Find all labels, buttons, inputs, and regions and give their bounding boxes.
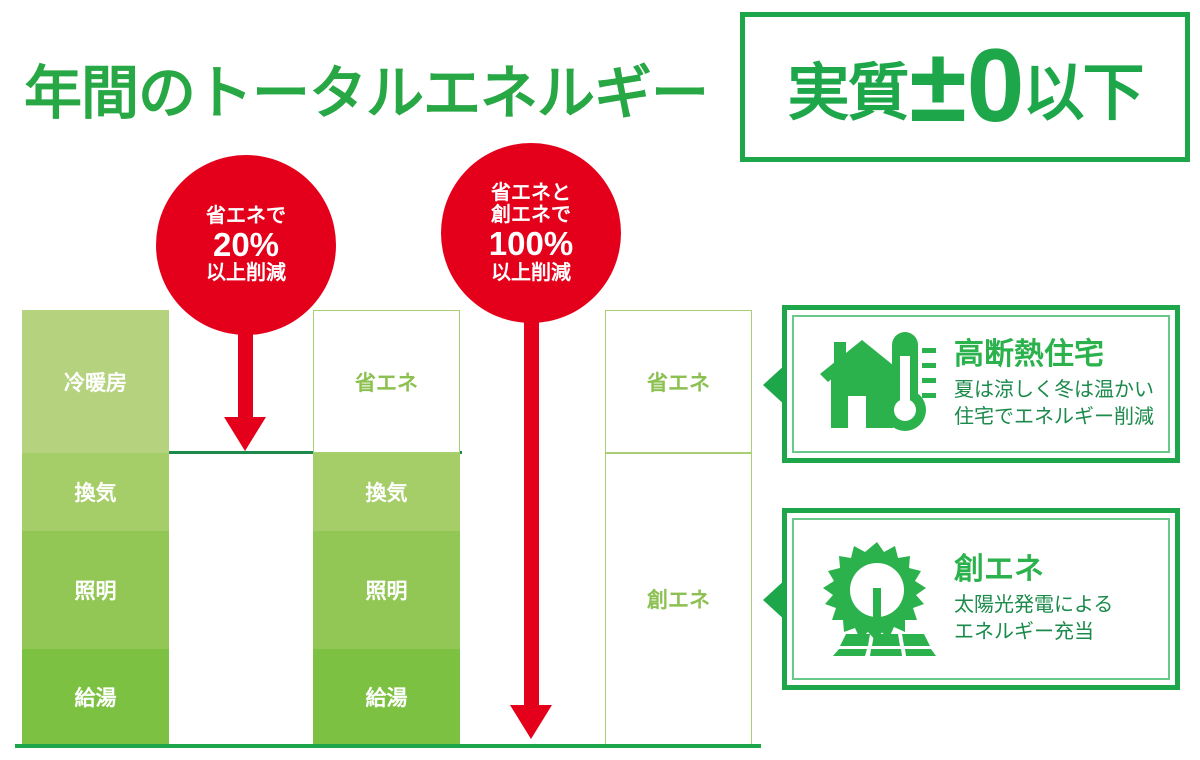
callout-arrowhead-icon — [510, 705, 552, 739]
bar-segment-hot-water: 給湯 — [313, 649, 460, 745]
bar-segment-energy-saving: 省エネ — [605, 310, 752, 453]
panel-description: 夏は涼しく冬は温かい 住宅でエネルギー削減 — [954, 377, 1154, 430]
infographic-canvas: 年間のトータルエネルギー 実質 ± 0 以下 冷暖房 換気 照明 給湯 省エネ … — [0, 0, 1200, 760]
segment-label: 冷暖房 — [64, 367, 127, 397]
net-zero-prefix: 実質 — [788, 42, 908, 132]
segment-label: 照明 — [75, 575, 117, 605]
net-zero-badge: 実質 ± 0 以下 — [740, 12, 1190, 162]
segment-label: 給湯 — [75, 682, 117, 712]
chart-baseline — [15, 744, 761, 748]
bar-segment-heating-cooling: 冷暖房 — [22, 310, 169, 453]
segment-label: 照明 — [366, 575, 408, 605]
panel-pointer-icon — [763, 363, 787, 407]
callout-bubble: 省エネで 20% 以上削減 — [156, 155, 336, 335]
panel-description-line: 夏は涼しく冬は温かい — [954, 377, 1154, 403]
callout-arrowhead-icon — [224, 417, 266, 451]
callout-line: 省エネと — [491, 182, 571, 204]
segment-label: 省エネ — [647, 367, 710, 397]
net-zero-value: 0 — [967, 40, 1021, 134]
bar-column-energy-saving-house: 省エネ 換気 照明 給湯 — [313, 310, 460, 745]
panel-title: 高断熱住宅 — [954, 338, 1154, 371]
bar-column-zeh-house: 省エネ 創エネ — [605, 310, 752, 745]
bar-segment-energy-saving: 省エネ — [313, 310, 460, 453]
panel-high-insulation: 高断熱住宅 夏は涼しく冬は温かい 住宅でエネルギー削減 — [782, 305, 1180, 463]
callout-line: 創エネで — [491, 204, 571, 226]
callout-bubble: 省エネと 創エネで 100% 以上削減 — [441, 143, 621, 323]
bar-segment-hot-water: 給湯 — [22, 649, 169, 745]
segment-label: 給湯 — [366, 682, 408, 712]
callout-value: 100% — [489, 227, 573, 262]
page-title: 年間のトータルエネルギー — [24, 46, 708, 130]
panel-description-line: 太陽光発電による — [954, 592, 1113, 618]
segment-label: 省エネ — [355, 367, 418, 397]
segment-label: 換気 — [366, 477, 408, 507]
panel-description-line: 住宅でエネルギー削減 — [954, 404, 1154, 430]
panel-inner-frame: 高断熱住宅 夏は涼しく冬は温かい 住宅でエネルギー削減 — [792, 315, 1170, 453]
panel-description: 太陽光発電による エネルギー充当 — [954, 592, 1113, 645]
net-zero-badge-content: 実質 ± 0 以下 — [788, 40, 1143, 134]
callout-line: 省エネで — [206, 205, 286, 227]
callout-stem — [524, 300, 539, 712]
panel-description-line: エネルギー充当 — [954, 619, 1113, 645]
panel-text-block: 創エネ 太陽光発電による エネルギー充当 — [954, 553, 1113, 645]
panel-inner-frame: 創エネ 太陽光発電による エネルギー充当 — [792, 518, 1170, 680]
solar-panel-icon — [818, 538, 936, 661]
panel-pointer-icon — [763, 578, 787, 622]
net-zero-suffix: 以下 — [1022, 42, 1142, 132]
bar-segment-ventilation: 換気 — [22, 453, 169, 531]
bar-segment-lighting: 照明 — [313, 531, 460, 649]
panel-text-block: 高断熱住宅 夏は涼しく冬は温かい 住宅でエネルギー削減 — [954, 338, 1154, 430]
house-thermometer-icon — [818, 330, 936, 439]
segment-label: 創エネ — [647, 584, 710, 614]
segment-label: 換気 — [75, 477, 117, 507]
panel-title: 創エネ — [954, 553, 1113, 586]
panel-energy-generation: 創エネ 太陽光発電による エネルギー充当 — [782, 508, 1180, 690]
bar-segment-energy-generation: 創エネ — [605, 453, 752, 745]
callout-line: 以上削減 — [491, 262, 571, 284]
bar-column-standard-house: 冷暖房 換気 照明 給湯 — [22, 310, 169, 745]
callout-value: 20% — [213, 228, 279, 263]
plus-minus-symbol: ± — [910, 40, 963, 134]
callout-line: 以上削減 — [206, 262, 286, 284]
bar-segment-lighting: 照明 — [22, 531, 169, 649]
bar-segment-ventilation: 換気 — [313, 453, 460, 531]
